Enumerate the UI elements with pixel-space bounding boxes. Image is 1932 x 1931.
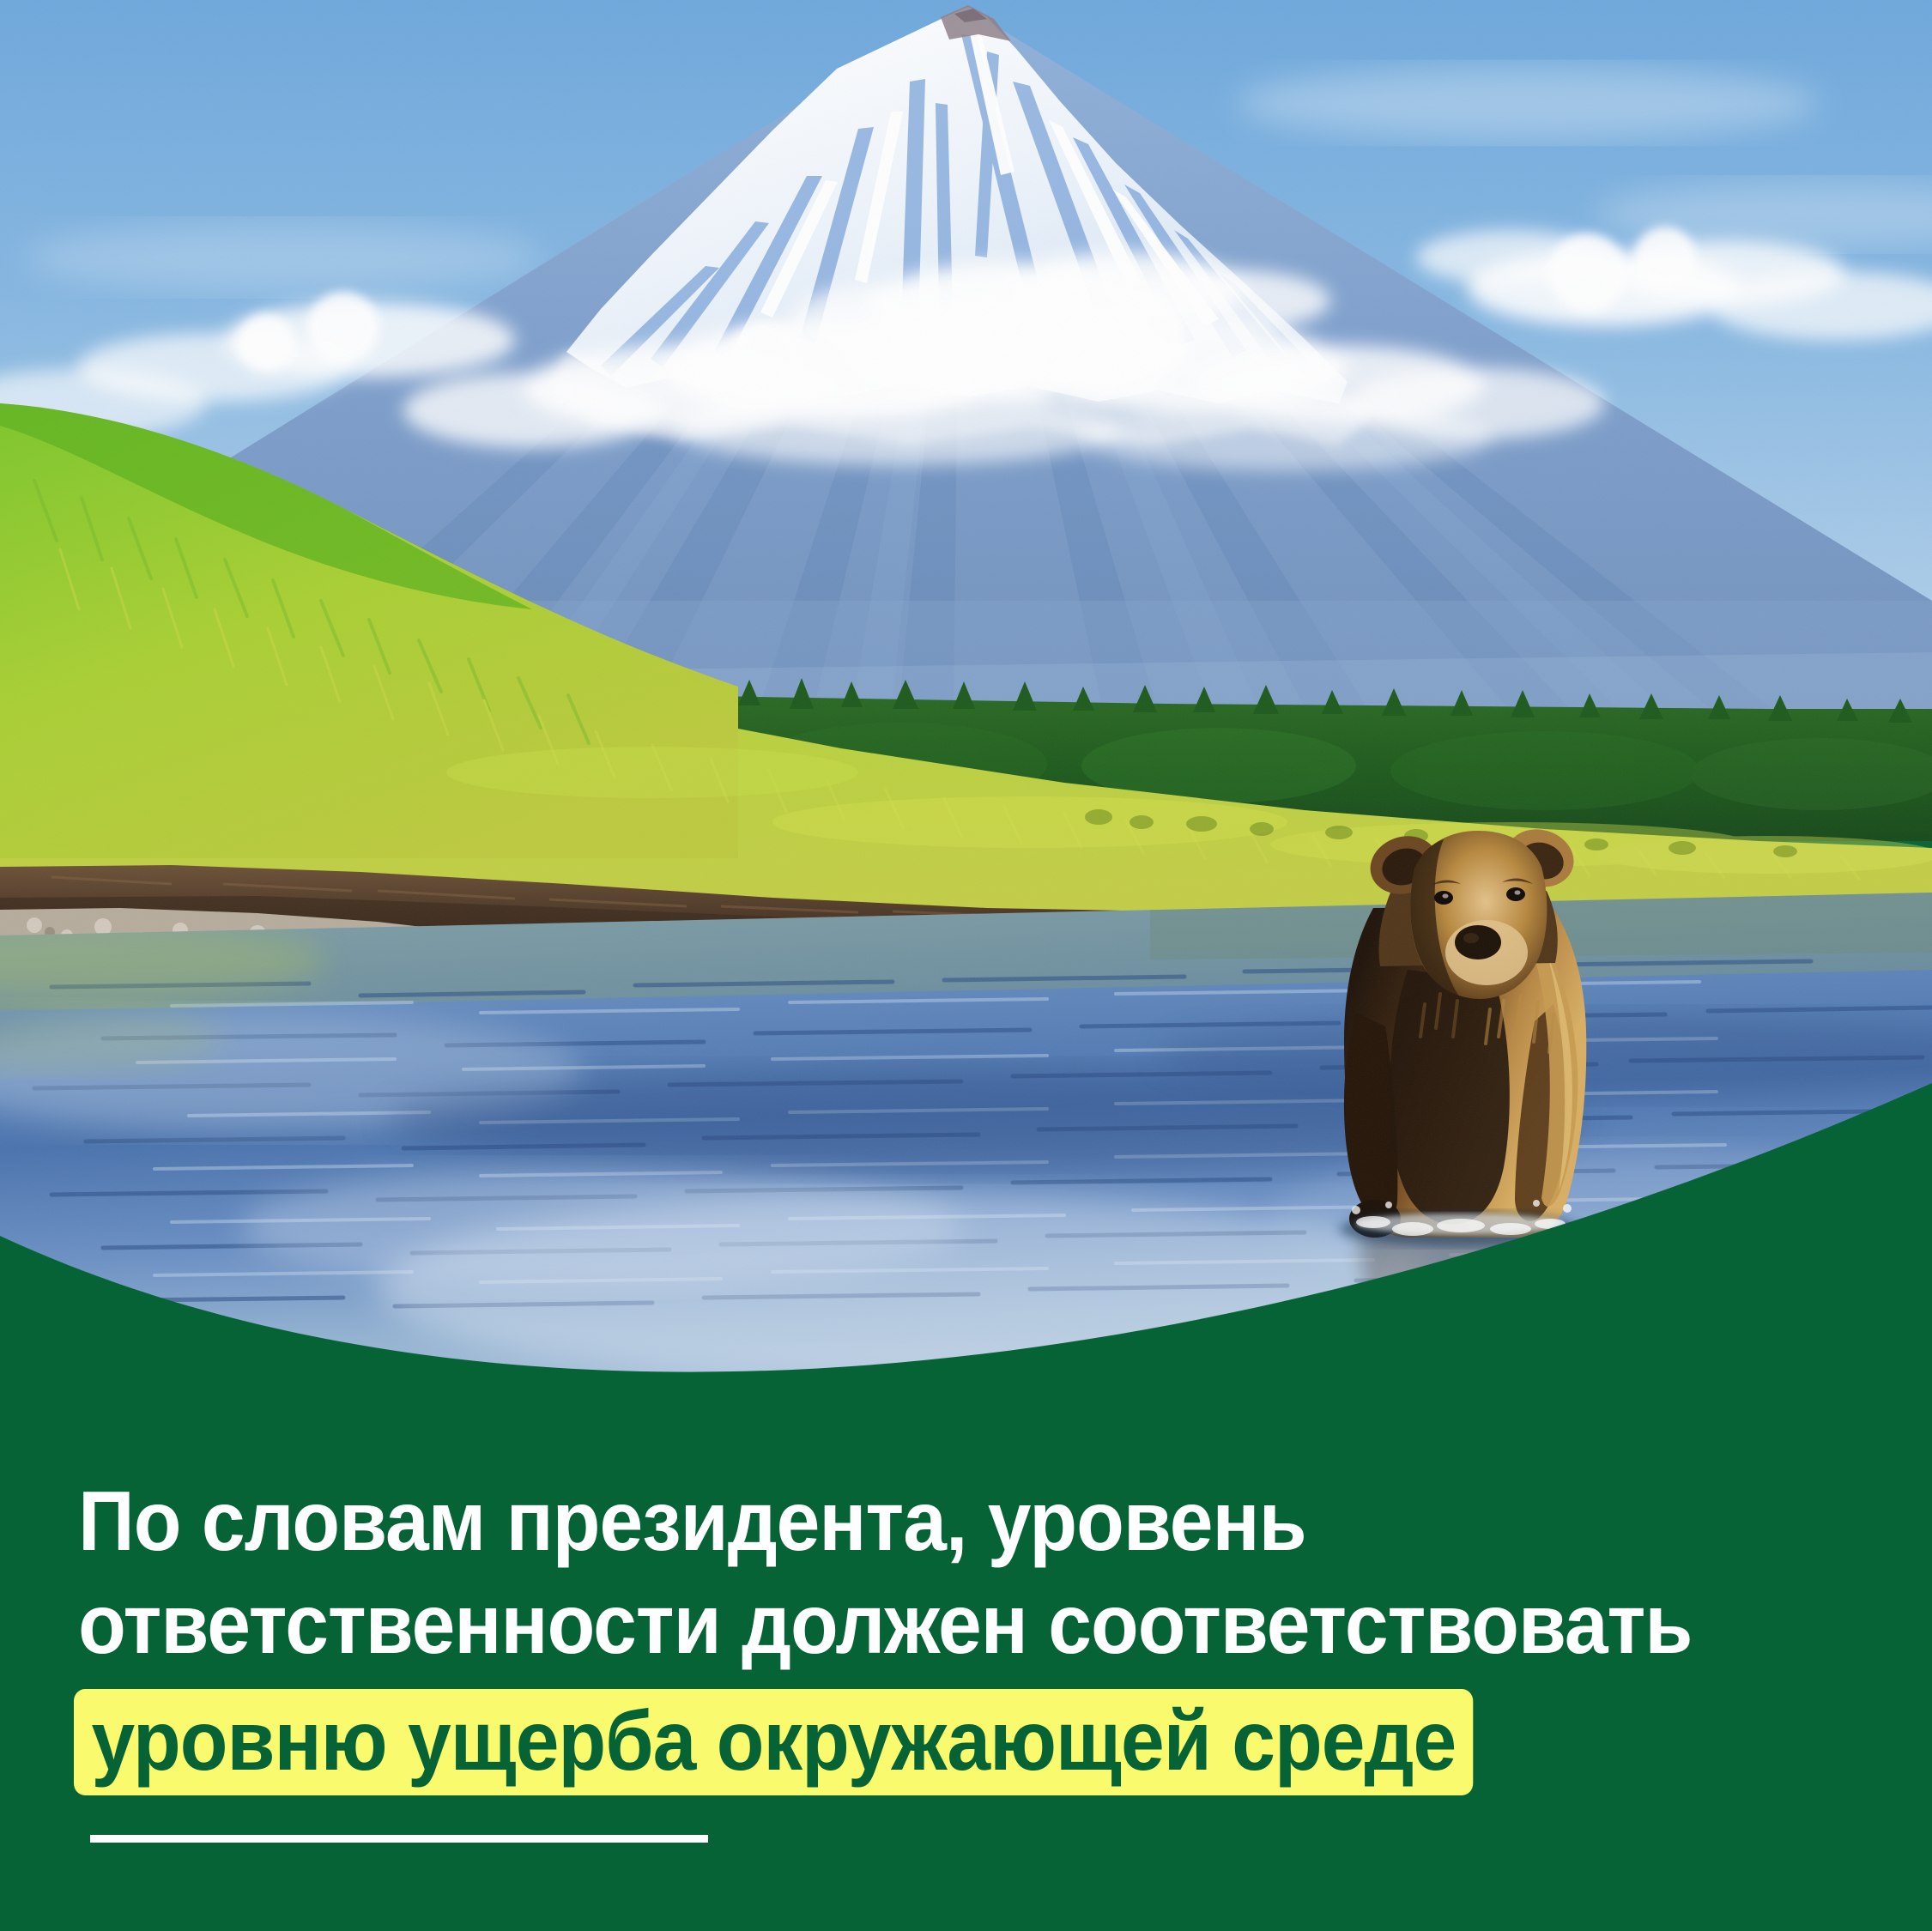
- caption-line-1: По словам президента, уровень: [0, 1474, 1796, 1567]
- divider-rule: [90, 1835, 708, 1843]
- caption-highlight-wrap: уровню ущерба окружающей среде: [0, 1689, 1932, 1795]
- photo-illustration: [0, 0, 1932, 1390]
- caption-highlight: уровню ущерба окружающей среде: [74, 1689, 1474, 1795]
- caption-line-2: ответственности должен соответствовать: [0, 1577, 1796, 1670]
- caption-block: По словам президента, уровень ответствен…: [0, 1474, 1932, 1843]
- hero-photo: [0, 0, 1932, 1390]
- social-post-card: По словам президента, уровень ответствен…: [0, 0, 1932, 1931]
